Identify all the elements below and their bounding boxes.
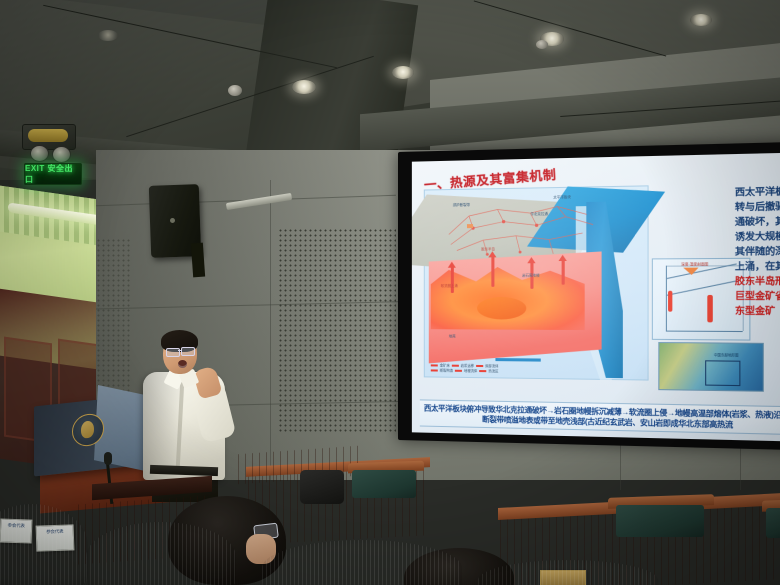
ceiling-downlight — [292, 80, 316, 94]
inset-map-label: 中国东部地形图 — [714, 352, 739, 358]
wall-joint-line — [270, 180, 271, 480]
legend-label: 深部流体 — [485, 364, 498, 368]
smoke-detector-icon — [228, 85, 242, 96]
inset-map-frame — [705, 360, 740, 386]
pa-speaker-badge — [170, 218, 175, 223]
auditorium-seat — [0, 504, 88, 585]
slide-text-line-highlighted: 巨型金矿省 — [735, 289, 780, 304]
diagram-label: 华北克拉通 — [530, 211, 548, 216]
diagram-legend: 金矿床 岩浆运移 深部流体 断裂构造 地幔流体 热流区 — [431, 363, 638, 376]
perforated-acoustic-panel — [96, 238, 130, 408]
audience-chair-back — [352, 470, 416, 498]
audience-chair — [300, 470, 344, 504]
ceiling-downlight — [392, 66, 414, 79]
emergency-light-icon — [52, 146, 71, 163]
ceiling-downlight — [98, 30, 118, 41]
inset-graph-label: 深度-温度剖面图 — [681, 261, 708, 266]
slide-text-line: 上涌，在其 — [735, 259, 780, 274]
presentation-slide: 一、热源及其富集机制 — [412, 152, 780, 441]
diagram-melt-core — [477, 297, 526, 320]
slide-text-line-highlighted: 胶东半岛形 — [735, 274, 780, 289]
auditorium-seat — [86, 522, 236, 585]
slide-right-text-column: 西太平洋板 转与后撤驱 通破坏，其 诱发大规模 其伴随的深 上涌，在其 胶东半岛… — [735, 185, 780, 320]
microphone-icon — [104, 452, 112, 465]
slide-caption: 西太平洋板块俯冲导致华北克拉通破坏→岩石圈地幔拆沉减薄→软流圈上侵→地幔高温部熔… — [420, 399, 780, 435]
projection-screen: 一、热源及其富集机制 — [412, 152, 780, 441]
speaker-glasses — [181, 347, 195, 356]
emergency-light-icon — [30, 145, 49, 162]
legend-label: 岩浆运移 — [461, 364, 474, 368]
diagram-scale-bar — [495, 358, 540, 362]
legend-label: 地幔流体 — [464, 369, 477, 373]
auditorium-seat — [262, 540, 462, 585]
slide-text-line: 西太平洋板 — [735, 185, 780, 201]
speaker-glasses-bridge — [178, 350, 182, 351]
diagram-label: 地壳 — [449, 333, 456, 338]
perforated-acoustic-panel — [278, 228, 396, 433]
ceiling-downlight — [690, 14, 712, 26]
projection-screen-frame: 一、热源及其富集机制 — [398, 142, 780, 451]
exit-sign: EXIT 安全出口 — [24, 163, 82, 185]
diagram-label: 胶东半岛 — [481, 246, 495, 251]
inset-topographic-map: 中国东部地形图 — [658, 342, 764, 392]
diagram-label: 岩石圈地幔 — [522, 272, 540, 277]
geodynamic-block-diagram: 郯庐断裂带 太平洋板块 华北克拉通 胶东半岛 软流圈上涌 岩石圈地幔 地壳 金矿… — [424, 185, 649, 380]
slide-text-line: 转与后撤驱 — [735, 200, 780, 216]
audience-chair-back — [766, 508, 780, 538]
legend-label: 断裂构造 — [440, 368, 453, 372]
diagram-flow-arrow — [562, 260, 565, 285]
diagram-label: 太平洋板块 — [553, 194, 571, 199]
legend-label: 热流区 — [488, 369, 498, 373]
pa-speaker-bracket — [191, 243, 205, 278]
audience-chair-back — [616, 505, 704, 537]
slide-text-line-highlighted: 东型金矿 — [735, 304, 780, 319]
legend-label: 金矿床 — [440, 363, 450, 367]
diagram-flow-arrow — [491, 256, 494, 287]
slide-text-line: 诱发大规模 — [735, 230, 780, 246]
speaker-mouth — [178, 360, 187, 368]
diagram-label: 软流圈上涌 — [441, 283, 458, 288]
slide-text-line: 其伴随的深 — [735, 245, 780, 260]
ceiling-vent-louvre — [28, 129, 68, 142]
diagram-label: 郯庐断裂带 — [453, 202, 470, 207]
diagram-flow-arrow — [451, 267, 454, 293]
smoke-detector-icon — [536, 40, 548, 49]
lecture-hall-photo: EXIT 安全出口 一、热源及其富集机制 — [0, 0, 780, 585]
slide-text-line: 通破坏，其 — [735, 215, 780, 231]
exit-sign-label: EXIT 安全出口 — [25, 163, 81, 185]
